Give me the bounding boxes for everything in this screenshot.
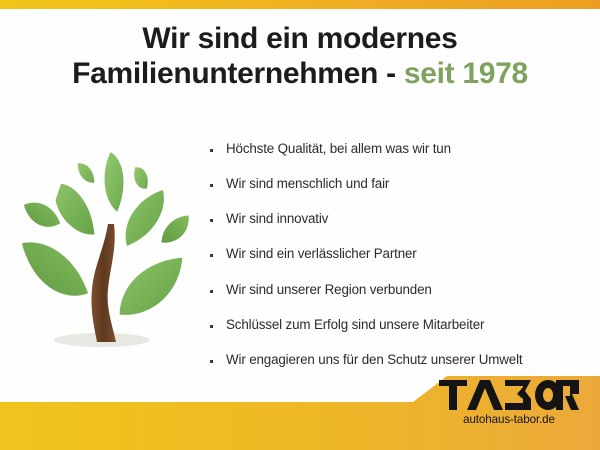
tree-illustration-svg bbox=[14, 144, 196, 358]
bullet-dot-icon bbox=[210, 184, 213, 187]
headline-accent: seit 1978 bbox=[404, 57, 528, 90]
tree-leaf-left-lower bbox=[20, 241, 90, 297]
headline-line-1: Wir sind ein modernes bbox=[0, 22, 600, 57]
tree-leaf-right-lower bbox=[118, 256, 184, 316]
list-item-label: Schlüssel zum Erfolg sind unsere Mitarbe… bbox=[226, 317, 484, 334]
tree-leaf-left-upper bbox=[54, 182, 96, 236]
brand-wordmark bbox=[434, 380, 584, 408]
tree-illustration bbox=[14, 144, 196, 358]
page-title: Wir sind ein modernes Familienunternehme… bbox=[0, 22, 600, 92]
headline-line-2: Familienunternehmen - seit 1978 bbox=[0, 57, 600, 92]
list-item-label: Höchste Qualität, bei allem was wir tun bbox=[226, 141, 451, 158]
bullet-dot-icon bbox=[210, 325, 213, 328]
list-item-label: Wir sind ein verlässlicher Partner bbox=[226, 246, 417, 263]
brand-logo[interactable]: autohaus-tabor.de bbox=[434, 380, 584, 426]
list-item-label: Wir sind innovativ bbox=[226, 211, 328, 228]
list-item: Wir sind ein verlässlicher Partner bbox=[210, 246, 595, 263]
bullet-dot-icon bbox=[210, 290, 213, 293]
list-item: Wir sind innovativ bbox=[210, 211, 595, 228]
bullet-dot-icon bbox=[210, 149, 213, 152]
tree-leaf-right-outer bbox=[160, 214, 190, 244]
list-item: Wir sind unserer Region verbunden bbox=[210, 282, 595, 299]
tree-leaf-top-small-left bbox=[76, 162, 96, 185]
brand-wordmark-svg bbox=[439, 380, 579, 410]
headline-line-2-main: Familienunternehmen - bbox=[72, 57, 404, 90]
slide-canvas: Wir sind ein modernes Familienunternehme… bbox=[0, 0, 600, 450]
list-item: Wir engagieren uns für den Schutz unsere… bbox=[210, 352, 595, 369]
value-bullet-list: Höchste Qualität, bei allem was wir tun … bbox=[210, 141, 595, 387]
list-item-label: Wir sind unserer Region verbunden bbox=[226, 282, 432, 299]
bullet-dot-icon bbox=[210, 360, 213, 363]
list-item: Schlüssel zum Erfolg sind unsere Mitarbe… bbox=[210, 317, 595, 334]
tree-leaf-top-center bbox=[103, 150, 125, 214]
list-item-label: Wir sind menschlich und fair bbox=[226, 176, 389, 193]
tree-leaf-top-small-right bbox=[133, 166, 149, 190]
bullet-dot-icon bbox=[210, 219, 213, 222]
tree-trunk bbox=[91, 224, 116, 342]
list-item: Höchste Qualität, bei allem was wir tun bbox=[210, 141, 595, 158]
brand-website[interactable]: autohaus-tabor.de bbox=[434, 413, 584, 426]
list-item: Wir sind menschlich und fair bbox=[210, 176, 595, 193]
top-accent-bar bbox=[0, 0, 600, 9]
bullet-dot-icon bbox=[210, 254, 213, 257]
list-item-label: Wir engagieren uns für den Schutz unsere… bbox=[226, 352, 522, 369]
